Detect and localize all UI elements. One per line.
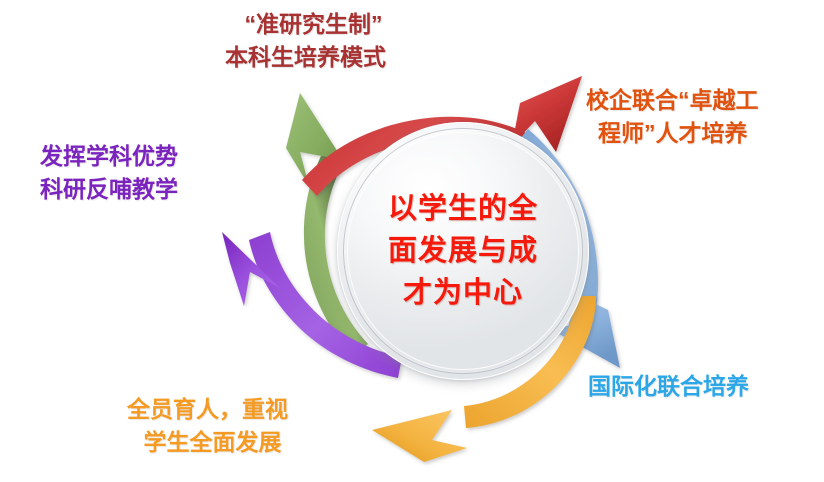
label-top-line-2: 本科生培养模式 [225, 41, 386, 74]
label-excellent-engineer-program: 校企联合“卓越工 程师”人才培养 [586, 84, 759, 151]
cycle-diagram: 以学生的全 面发展与成 才为中心 “准研究生制” 本科生培养模式 校企联合“卓越… [0, 0, 824, 482]
label-left-line-2: 科研反哺教学 [40, 173, 178, 206]
hub-text-line-1: 以学生的全 [388, 195, 538, 224]
label-right-bottom-line-1: 国际化联合培养 [588, 370, 749, 403]
hub-text: 以学生的全 面发展与成 才为中心 [337, 122, 589, 380]
label-bottom-line-1: 全员育人，重视 [127, 393, 288, 426]
label-right-top-line-1: 校企联合“卓越工 [586, 84, 759, 117]
label-right-top-line-2: 程师”人才培养 [586, 117, 759, 150]
label-international-joint-training: 国际化联合培养 [588, 370, 749, 403]
label-bottom-line-2: 学生全面发展 [127, 426, 288, 459]
label-all-staff-education: 全员育人，重视 学生全面发展 [127, 393, 288, 460]
center-hub: 以学生的全 面发展与成 才为中心 [337, 122, 589, 380]
hub-text-line-3: 才为中心 [403, 279, 523, 308]
label-top-line-1: “准研究生制” [225, 8, 386, 41]
label-left-line-1: 发挥学科优势 [40, 140, 178, 173]
label-discipline-advantage: 发挥学科优势 科研反哺教学 [40, 140, 178, 207]
hub-text-line-2: 面发展与成 [388, 237, 538, 266]
label-quasi-graduate-program: “准研究生制” 本科生培养模式 [225, 8, 386, 75]
